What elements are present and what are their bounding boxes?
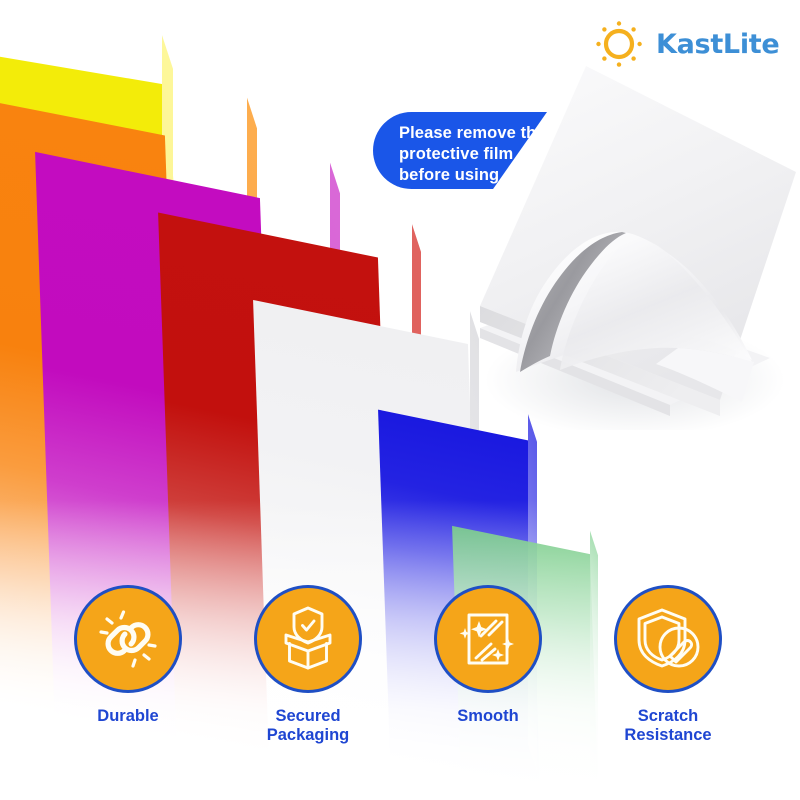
brand-logo: KastLite [592,16,782,72]
callout-line-3: before using [399,165,589,186]
sparkle-panel-icon [451,602,525,676]
feature-label-secured-packaging: Secured Packaging [218,707,398,746]
feature-label-line-1: Secured [218,707,398,726]
feature-badge-circle [254,585,362,693]
product-marketing-image: KastLite Please remove the protective fi… [0,0,800,800]
shield-blade-icon [631,602,705,676]
sun-rays [596,21,642,67]
feature-scratch-resistance: Scratch Resistance [578,585,758,746]
feature-label-line-2: Packaging [218,726,398,745]
feature-label-line-2: Resistance [578,726,758,745]
feature-secured-packaging: Secured Packaging [218,585,398,746]
feature-label-smooth: Smooth [398,707,578,726]
callout-line-2: protective film [399,144,589,165]
feature-badges-row: Durable Secured Packaging [0,585,800,785]
brand-name: KastLite [656,29,779,60]
sun-ring [606,31,632,57]
feature-badge-circle [614,585,722,693]
box-flaps [286,635,330,651]
feature-smooth: Smooth [398,585,578,726]
shine-line-2 [489,622,502,635]
feature-label-scratch-resistance: Scratch Resistance [578,707,758,746]
chain-link-icon [91,602,165,676]
feature-label-line-1: Scratch [578,707,758,726]
feature-badge-circle [74,585,182,693]
callout-line-1: Please remove the [399,123,589,144]
protective-film-callout: Please remove the protective film before… [373,112,547,189]
sun-icon [592,17,646,71]
check-mark [303,621,315,630]
feature-durable: Durable [38,585,218,726]
shield-box-icon [271,602,345,676]
feature-label-durable: Durable [38,707,218,726]
feature-badge-circle [434,585,542,693]
callout-text: Please remove the protective film before… [399,123,589,186]
